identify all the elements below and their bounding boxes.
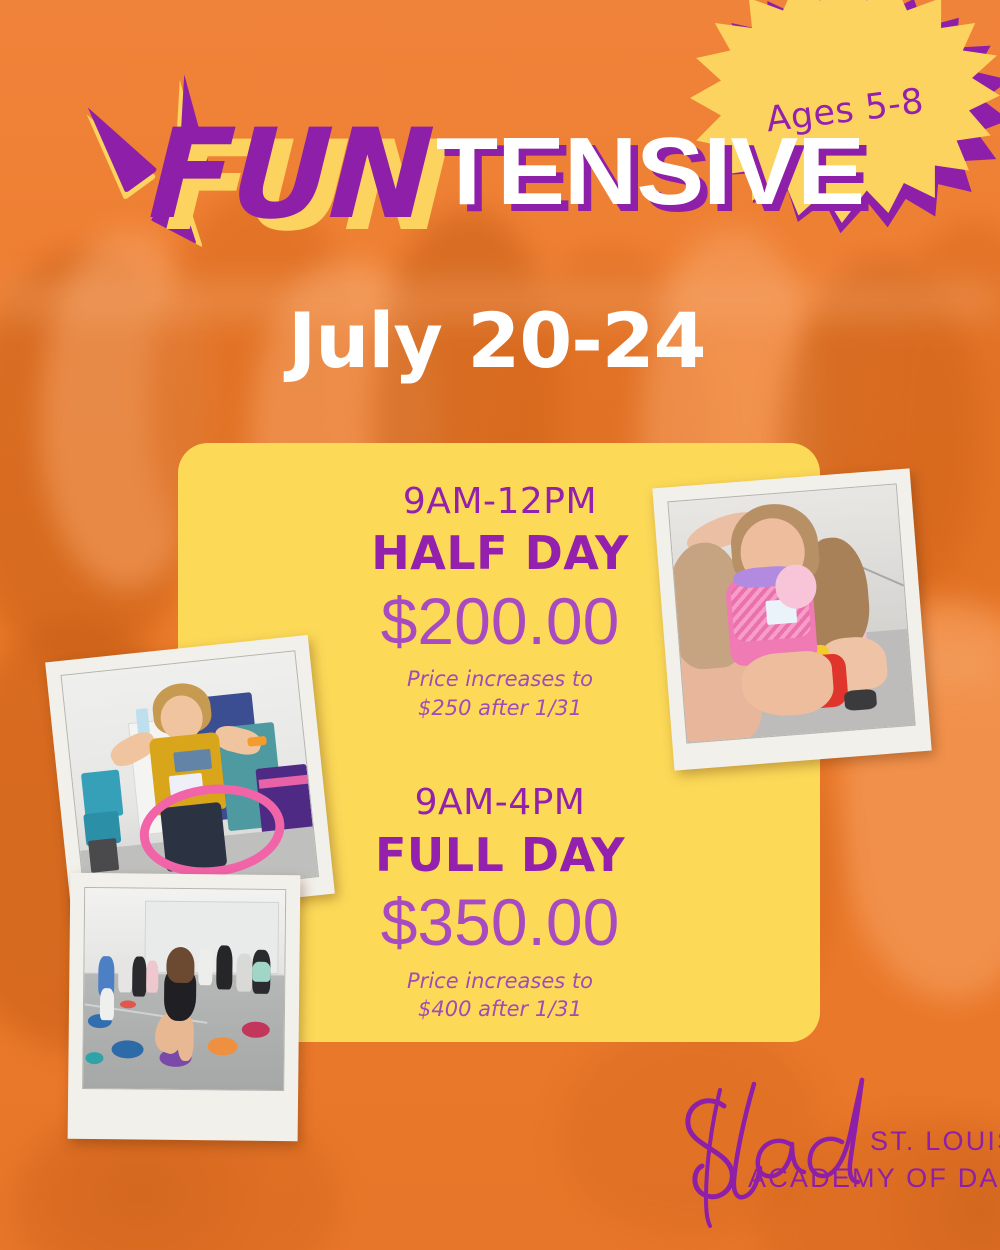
title-fun: FUN FUN — [150, 118, 430, 232]
tier-note: Price increases to $400 after 1/31 — [326, 967, 674, 1024]
tier-note-line1: Price increases to — [407, 969, 593, 993]
tier-note-line2: $400 after 1/31 — [418, 997, 582, 1021]
photo-two-girls-whispering — [652, 468, 931, 770]
tier-time: 9AM-4PM — [326, 782, 674, 823]
logo-wordmark: ST. LOUIS ACADEMY OF DANCE — [814, 1126, 1000, 1194]
pricing-tier-full-day: 9AM-4PM FULL DAY $350.00 Price increases… — [326, 782, 674, 1023]
flyer-poster: Ages 5-8 FUN FUN TENSIVE TENSIVE July 20… — [0, 0, 1000, 1250]
tier-note-line1: Price increases to — [407, 667, 593, 691]
tier-name: FULL DAY — [326, 828, 674, 883]
logo-line-1: ST. LOUIS — [870, 1126, 1000, 1157]
pricing-tier-half-day: 9AM-12PM HALF DAY $200.00 Price increase… — [326, 481, 674, 722]
logo-line-2: ACADEMY OF DANCE — [748, 1163, 1000, 1194]
tier-name: HALF DAY — [326, 526, 674, 581]
camp-dates: July 20-24 — [288, 296, 706, 385]
tier-note-line2: $250 after 1/31 — [418, 696, 582, 720]
tier-price: $200.00 — [326, 584, 674, 660]
title-fun-text: FUN — [147, 118, 433, 232]
slad-logo: ST. LOUIS ACADEMY OF DANCE — [662, 1070, 962, 1230]
title-row: FUN FUN TENSIVE TENSIVE — [150, 118, 840, 232]
photo-dance-class-in-studio — [68, 873, 301, 1141]
photo-image — [667, 483, 915, 743]
title-tensive: TENSIVE TENSIVE — [436, 124, 864, 220]
tier-note: Price increases to $250 after 1/31 — [326, 665, 674, 722]
title-tensive-text: TENSIVE — [436, 124, 864, 220]
pricing-list: 9AM-12PM HALF DAY $200.00 Price increase… — [326, 481, 674, 1023]
photo-image — [61, 650, 320, 901]
tier-price: $350.00 — [326, 885, 674, 961]
photo-image — [82, 887, 286, 1091]
tier-time: 9AM-12PM — [326, 481, 674, 522]
